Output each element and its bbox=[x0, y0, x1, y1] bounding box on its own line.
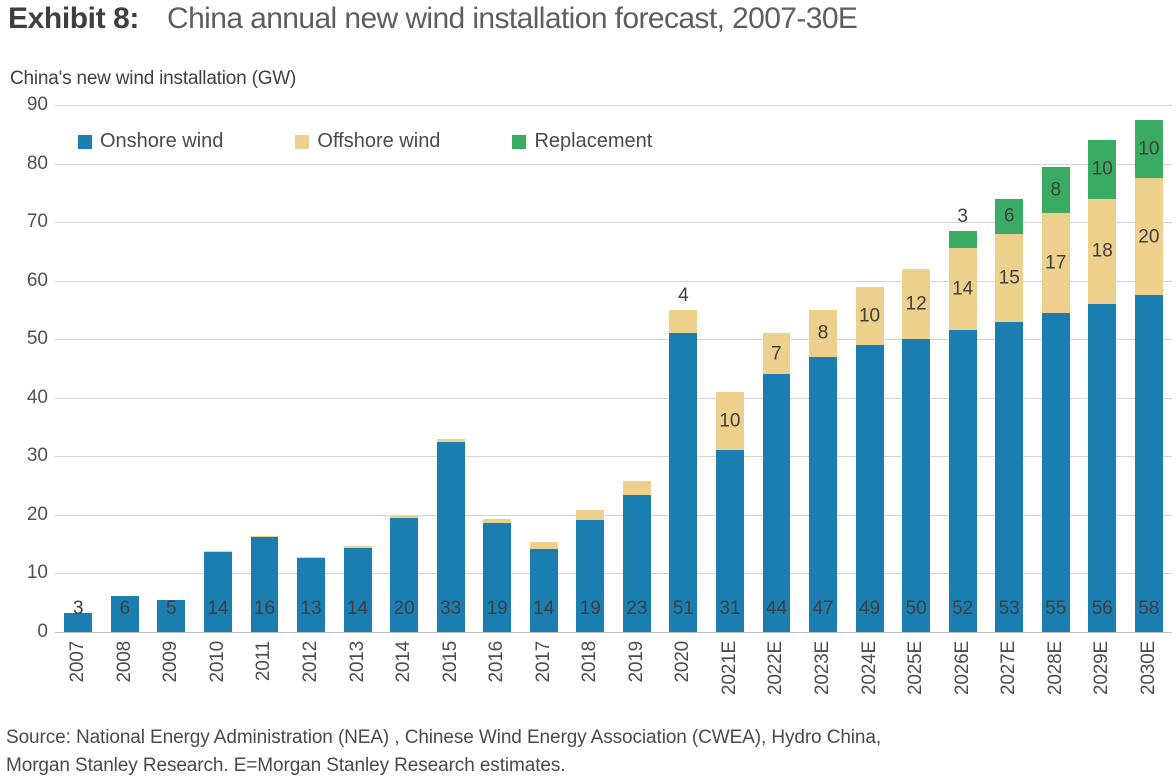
bar-value-label: 10 bbox=[1138, 139, 1159, 158]
bar-segment-replacement-2026E[interactable]: 3 bbox=[949, 231, 977, 249]
bar-group-2027E[interactable]: 61553 bbox=[986, 105, 1033, 632]
legend-item-offshore-wind[interactable]: Offshore wind bbox=[295, 130, 440, 153]
x-axis-tick-2011: 2011 bbox=[241, 641, 288, 719]
x-axis-tick-label: 2013 bbox=[347, 641, 369, 682]
source-line-1: Source: National Energy Administration (… bbox=[6, 724, 1172, 752]
x-axis-tick-label: 2016 bbox=[486, 641, 508, 682]
x-axis-tick-2029E: 2029E bbox=[1079, 641, 1126, 719]
bar-value-label: 10 bbox=[859, 306, 880, 325]
y-axis-tick-70: 70 bbox=[0, 211, 48, 233]
bar-value-label: 12 bbox=[906, 295, 927, 314]
bar-value-label: 10 bbox=[1092, 160, 1113, 179]
bar-group-2030E[interactable]: 102058 bbox=[1126, 105, 1173, 632]
y-axis-tick-80: 80 bbox=[0, 153, 48, 175]
y-axis-tick-50: 50 bbox=[0, 328, 48, 350]
bar-value-label: 23 bbox=[626, 599, 647, 618]
bar-value-label: 53 bbox=[999, 599, 1020, 618]
gridline-0 bbox=[55, 632, 1172, 633]
bar-segment-offshore-2027E[interactable]: 15 bbox=[995, 234, 1023, 322]
stacked-bar: 219 bbox=[576, 510, 604, 632]
x-axis-tick-2013: 2013 bbox=[334, 641, 381, 719]
stacked-bar: 223 bbox=[623, 481, 651, 632]
bar-segment-offshore-2029E[interactable]: 18 bbox=[1088, 199, 1116, 304]
x-axis-tick-2022E: 2022E bbox=[753, 641, 800, 719]
x-axis-tick-label: 2026E bbox=[952, 641, 974, 695]
bar-group-2019[interactable]: 223 bbox=[614, 105, 661, 632]
page-title: Exhibit 8: China annual new wind install… bbox=[8, 2, 1176, 46]
x-axis-tick-2009: 2009 bbox=[148, 641, 195, 719]
bar-value-label: 14 bbox=[207, 599, 228, 618]
bar-series-container: 3651416131420331191142192234511031744847… bbox=[55, 105, 1172, 632]
stacked-bar: 451 bbox=[669, 310, 697, 632]
bar-group-2018[interactable]: 219 bbox=[567, 105, 614, 632]
x-axis-labels: 2007200820092010201120122013201420152016… bbox=[55, 641, 1172, 719]
square-swatch-icon bbox=[295, 135, 309, 149]
bar-segment-onshore-2018[interactable]: 19 bbox=[576, 520, 604, 632]
bar-segment-onshore-2020[interactable]: 51 bbox=[669, 333, 697, 632]
x-axis-tick-2018: 2018 bbox=[567, 641, 614, 719]
x-axis-tick-label: 2019 bbox=[626, 641, 648, 682]
bar-segment-offshore-2020[interactable]: 4 bbox=[669, 310, 697, 333]
stacked-bar: 119 bbox=[483, 519, 511, 632]
bar-segment-onshore-2025E[interactable]: 50 bbox=[902, 339, 930, 632]
x-axis-tick-2008: 2008 bbox=[102, 641, 149, 719]
x-axis-tick-label: 2012 bbox=[300, 641, 322, 682]
bar-segment-onshore-2012[interactable]: 13 bbox=[297, 558, 325, 632]
bar-value-label: 14 bbox=[533, 599, 554, 618]
stacked-bar: 31452 bbox=[949, 231, 977, 632]
y-axis: 0102030405060708090 bbox=[0, 105, 48, 632]
stacked-bar: 114 bbox=[530, 542, 558, 632]
stacked-bar: 847 bbox=[809, 310, 837, 632]
bar-group-2012[interactable]: 13 bbox=[288, 105, 335, 632]
bar-segment-replacement-2030E[interactable]: 10 bbox=[1135, 120, 1163, 179]
x-axis-tick-label: 2020 bbox=[672, 641, 694, 682]
bar-segment-onshore-2026E[interactable]: 52 bbox=[949, 330, 977, 632]
y-axis-tick-90: 90 bbox=[0, 94, 48, 116]
y-axis-tick-20: 20 bbox=[0, 504, 48, 526]
bar-value-label: 10 bbox=[719, 412, 740, 431]
source-line-2: Morgan Stanley Research. E=Morgan Stanle… bbox=[6, 752, 1172, 780]
bar-value-label: 14 bbox=[952, 280, 973, 299]
bar-segment-offshore-2023E[interactable]: 8 bbox=[809, 310, 837, 357]
bar-segment-onshore-2024E[interactable]: 49 bbox=[856, 345, 884, 632]
bar-value-label: 3 bbox=[73, 599, 84, 618]
bar-segment-onshore-2019[interactable]: 23 bbox=[623, 495, 651, 632]
stacked-bar: 33 bbox=[437, 439, 465, 632]
bar-value-label: 51 bbox=[673, 599, 694, 618]
bar-value-label: 5 bbox=[166, 599, 177, 618]
bar-value-label: 56 bbox=[1092, 599, 1113, 618]
bar-group-2022E[interactable]: 744 bbox=[753, 105, 800, 632]
x-axis-tick-label: 2018 bbox=[579, 641, 601, 682]
x-axis-tick-2021E: 2021E bbox=[707, 641, 754, 719]
bar-segment-replacement-2027E[interactable]: 6 bbox=[995, 199, 1023, 234]
bar-group-2026E[interactable]: 31452 bbox=[939, 105, 986, 632]
y-axis-tick-60: 60 bbox=[0, 270, 48, 292]
x-axis-tick-label: 2009 bbox=[160, 641, 182, 682]
x-axis-tick-2012: 2012 bbox=[288, 641, 335, 719]
stacked-bar: 3 bbox=[64, 613, 92, 632]
bar-segment-onshore-2021E[interactable]: 31 bbox=[716, 450, 744, 632]
stacked-bar: 6 bbox=[111, 596, 139, 632]
bar-segment-offshore-2025E[interactable]: 12 bbox=[902, 269, 930, 339]
x-axis-tick-2026E: 2026E bbox=[939, 641, 986, 719]
x-axis-tick-2024E: 2024E bbox=[846, 641, 893, 719]
chart-subtitle: China's new wind installation (GW) bbox=[10, 68, 296, 90]
y-axis-tick-40: 40 bbox=[0, 387, 48, 409]
x-axis-tick-label: 2028E bbox=[1045, 641, 1067, 695]
bar-segment-onshore-2029E[interactable]: 56 bbox=[1088, 304, 1116, 632]
stacked-bar: 5 bbox=[157, 600, 185, 632]
bar-value-label: 8 bbox=[1050, 180, 1061, 199]
bar-segment-onshore-2009[interactable]: 5 bbox=[157, 600, 185, 632]
bar-group-2021E[interactable]: 1031 bbox=[707, 105, 754, 632]
x-axis-tick-2027E: 2027E bbox=[986, 641, 1033, 719]
bar-segment-onshore-2030E[interactable]: 58 bbox=[1135, 295, 1163, 632]
bar-value-label: 3 bbox=[957, 207, 968, 226]
legend-item-replacement[interactable]: Replacement bbox=[512, 130, 652, 153]
bar-value-label: 6 bbox=[1004, 207, 1015, 226]
exhibit-number-label: Exhibit 8: bbox=[8, 2, 139, 36]
stacked-bar: 81755 bbox=[1042, 167, 1070, 633]
bar-segment-offshore-2018[interactable]: 2 bbox=[576, 510, 604, 521]
bar-group-2011[interactable]: 16 bbox=[241, 105, 288, 632]
bar-segment-onshore-2028E[interactable]: 55 bbox=[1042, 313, 1070, 632]
bar-value-label: 15 bbox=[999, 268, 1020, 287]
x-axis-tick-label: 2030E bbox=[1138, 641, 1160, 695]
stacked-bar: 102058 bbox=[1135, 120, 1163, 632]
x-axis-tick-label: 2025E bbox=[905, 641, 927, 695]
bar-segment-onshore-2015[interactable]: 33 bbox=[437, 442, 465, 632]
bar-segment-replacement-2029E[interactable]: 10 bbox=[1088, 140, 1116, 199]
bar-value-label: 52 bbox=[952, 599, 973, 618]
stacked-bar: 744 bbox=[763, 333, 791, 632]
bar-segment-offshore-2019[interactable]: 2 bbox=[623, 481, 651, 495]
y-axis-tick-30: 30 bbox=[0, 445, 48, 467]
x-axis-tick-2028E: 2028E bbox=[1032, 641, 1079, 719]
bar-group-2017[interactable]: 114 bbox=[520, 105, 567, 632]
y-axis-tick-0: 0 bbox=[0, 621, 48, 643]
x-axis-tick-2019: 2019 bbox=[614, 641, 661, 719]
bar-segment-onshore-2014[interactable]: 20 bbox=[390, 518, 418, 632]
bar-segment-onshore-2011[interactable]: 16 bbox=[251, 537, 279, 632]
bar-segment-onshore-2013[interactable]: 14 bbox=[344, 548, 372, 632]
chart-page: Exhibit 8: China annual new wind install… bbox=[0, 0, 1176, 780]
bar-segment-offshore-2026E[interactable]: 14 bbox=[949, 248, 977, 330]
bar-segment-onshore-2007[interactable]: 3 bbox=[64, 613, 92, 632]
bar-segment-onshore-2016[interactable]: 19 bbox=[483, 523, 511, 632]
chart-legend: Onshore windOffshore windReplacement bbox=[78, 130, 724, 153]
x-axis-tick-2010: 2010 bbox=[195, 641, 242, 719]
bar-segment-offshore-2021E[interactable]: 10 bbox=[716, 392, 744, 451]
bar-value-label: 19 bbox=[580, 599, 601, 618]
stacked-bar: 20 bbox=[390, 516, 418, 633]
bar-value-label: 7 bbox=[771, 344, 782, 363]
bar-segment-offshore-2028E[interactable]: 17 bbox=[1042, 213, 1070, 313]
stacked-bar: 16 bbox=[251, 536, 279, 632]
square-swatch-icon bbox=[512, 135, 526, 149]
stacked-bar: 1250 bbox=[902, 269, 930, 632]
x-axis-tick-label: 2021E bbox=[719, 641, 741, 695]
x-axis-tick-label: 2023E bbox=[812, 641, 834, 695]
bar-group-2015[interactable]: 33 bbox=[427, 105, 474, 632]
x-axis-tick-label: 2014 bbox=[393, 641, 415, 682]
x-axis-tick-label: 2024E bbox=[859, 641, 881, 695]
x-axis-tick-label: 2007 bbox=[67, 641, 89, 682]
stacked-bar: 14 bbox=[344, 546, 372, 632]
bar-value-label: 44 bbox=[766, 599, 787, 618]
x-axis-tick-2017: 2017 bbox=[520, 641, 567, 719]
bar-value-label: 49 bbox=[859, 599, 880, 618]
bar-group-2024E[interactable]: 1049 bbox=[846, 105, 893, 632]
bar-value-label: 47 bbox=[812, 599, 833, 618]
bar-segment-onshore-2022E[interactable]: 44 bbox=[763, 374, 791, 632]
x-axis-tick-2030E: 2030E bbox=[1126, 641, 1173, 719]
x-axis-tick-2014: 2014 bbox=[381, 641, 428, 719]
x-axis-tick-label: 2011 bbox=[253, 641, 275, 681]
bar-segment-replacement-2028E[interactable]: 8 bbox=[1042, 167, 1070, 214]
bar-value-label: 6 bbox=[120, 599, 131, 618]
bar-group-2008[interactable]: 6 bbox=[102, 105, 149, 632]
bar-segment-offshore-2024E[interactable]: 10 bbox=[856, 287, 884, 346]
bar-value-label: 19 bbox=[487, 599, 508, 618]
stacked-bar: 14 bbox=[204, 551, 232, 632]
x-axis-tick-label: 2029E bbox=[1091, 641, 1113, 695]
bar-value-label: 20 bbox=[394, 599, 415, 618]
legend-label: Offshore wind bbox=[317, 130, 440, 153]
bar-value-label: 50 bbox=[906, 599, 927, 618]
bar-segment-offshore-2017[interactable]: 1 bbox=[530, 542, 558, 549]
bar-value-label: 13 bbox=[300, 599, 321, 618]
x-axis-tick-2007: 2007 bbox=[55, 641, 102, 719]
bar-segment-onshore-2023E[interactable]: 47 bbox=[809, 357, 837, 632]
legend-label: Replacement bbox=[534, 130, 652, 153]
bar-value-label: 8 bbox=[818, 324, 829, 343]
y-axis-tick-10: 10 bbox=[0, 562, 48, 584]
x-axis-tick-label: 2017 bbox=[533, 641, 555, 682]
chart-title: China annual new wind installation forec… bbox=[167, 2, 857, 36]
legend-item-onshore-wind[interactable]: Onshore wind bbox=[78, 130, 223, 153]
x-axis-tick-2023E: 2023E bbox=[800, 641, 847, 719]
stacked-bar: 1049 bbox=[856, 287, 884, 632]
bar-value-label: 20 bbox=[1138, 227, 1159, 246]
bar-group-2016[interactable]: 119 bbox=[474, 105, 521, 632]
bar-value-label: 14 bbox=[347, 599, 368, 618]
bar-group-2020[interactable]: 451 bbox=[660, 105, 707, 632]
bar-segment-onshore-2010[interactable]: 14 bbox=[204, 552, 232, 632]
stacked-bar: 1031 bbox=[716, 392, 744, 632]
bar-value-label: 33 bbox=[440, 599, 461, 618]
bar-segment-onshore-2017[interactable]: 14 bbox=[530, 549, 558, 632]
bar-group-2028E[interactable]: 81755 bbox=[1032, 105, 1079, 632]
bar-group-2010[interactable]: 14 bbox=[195, 105, 242, 632]
bar-value-label: 31 bbox=[719, 599, 740, 618]
stacked-bar: 101856 bbox=[1088, 140, 1116, 632]
legend-label: Onshore wind bbox=[100, 130, 223, 153]
bar-segment-onshore-2027E[interactable]: 53 bbox=[995, 322, 1023, 632]
bar-group-2013[interactable]: 14 bbox=[334, 105, 381, 632]
bar-value-label: 17 bbox=[1045, 254, 1066, 273]
bar-segment-offshore-2022E[interactable]: 7 bbox=[763, 333, 791, 374]
x-axis-tick-label: 2010 bbox=[207, 641, 229, 682]
plot-area: 0102030405060708090 36514161314203311911… bbox=[0, 96, 1176, 641]
bar-group-2007[interactable]: 3 bbox=[55, 105, 102, 632]
bar-value-label: 58 bbox=[1138, 599, 1159, 618]
bar-value-label: 4 bbox=[678, 286, 689, 305]
stacked-bar: 13 bbox=[297, 557, 325, 632]
stacked-bar: 61553 bbox=[995, 199, 1023, 632]
x-axis-tick-2015: 2015 bbox=[427, 641, 474, 719]
bar-value-label: 18 bbox=[1092, 242, 1113, 261]
bar-group-2023E[interactable]: 847 bbox=[800, 105, 847, 632]
x-axis-tick-2025E: 2025E bbox=[893, 641, 940, 719]
x-axis-tick-label: 2022E bbox=[765, 641, 787, 695]
bar-group-2014[interactable]: 20 bbox=[381, 105, 428, 632]
x-axis-tick-2020: 2020 bbox=[660, 641, 707, 719]
bar-group-2009[interactable]: 5 bbox=[148, 105, 195, 632]
x-axis-tick-label: 2008 bbox=[114, 641, 136, 682]
x-axis-tick-label: 2027E bbox=[998, 641, 1020, 695]
x-axis-tick-label: 2015 bbox=[440, 641, 462, 682]
bar-value-label: 16 bbox=[254, 599, 275, 618]
square-swatch-icon bbox=[78, 135, 92, 149]
bar-segment-onshore-2008[interactable]: 6 bbox=[111, 596, 139, 632]
bar-group-2025E[interactable]: 1250 bbox=[893, 105, 940, 632]
x-axis-tick-2016: 2016 bbox=[474, 641, 521, 719]
bar-value-label: 55 bbox=[1045, 599, 1066, 618]
bar-segment-offshore-2030E[interactable]: 20 bbox=[1135, 178, 1163, 295]
bar-group-2029E[interactable]: 101856 bbox=[1079, 105, 1126, 632]
source-note: Source: National Energy Administration (… bbox=[6, 724, 1172, 779]
